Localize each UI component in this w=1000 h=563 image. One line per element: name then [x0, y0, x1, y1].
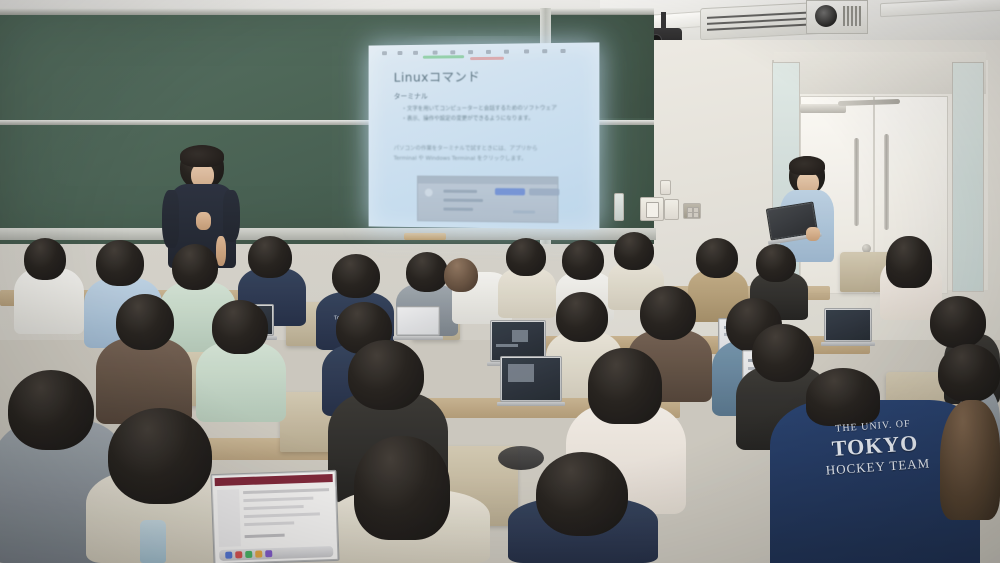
student-head [406, 252, 448, 292]
student-head [24, 238, 66, 280]
wall-sensor [660, 180, 671, 195]
toolbar-green-marker [423, 55, 464, 58]
speaker-cone [815, 5, 837, 27]
student-laptop[interactable] [500, 356, 562, 402]
wall-speaker [806, 0, 868, 34]
student-head [562, 240, 604, 280]
student-head [96, 240, 144, 286]
slide-toolbar [376, 45, 591, 60]
water-bottle [140, 520, 166, 563]
student-head [930, 296, 986, 348]
slide-bullet: ・文字を用いてコンピューターと会話するためのソフトウェア [401, 104, 556, 113]
screenshot-icon [425, 189, 433, 197]
student-head [8, 370, 94, 450]
student-head [696, 238, 738, 278]
door-side-glass-right [952, 62, 984, 292]
wall-edge-trim [614, 193, 624, 221]
student-head [536, 452, 628, 536]
student-head [172, 244, 218, 290]
student-head [506, 238, 546, 276]
screenshot-primary-button [495, 188, 525, 195]
student-head [116, 294, 174, 350]
student-head [640, 286, 696, 340]
student-head [348, 340, 424, 410]
laptop-screen-window [512, 330, 528, 342]
chalkboard-tray [0, 228, 656, 240]
student-head [614, 232, 654, 270]
slide-subtitle: ターミナル [394, 91, 428, 101]
lecture-hall-photo: Linuxコマンド ターミナル ・文字を用いてコンピューターと会話するためのソフ… [0, 0, 1000, 563]
assistant-hand [806, 227, 820, 241]
student-laptop[interactable] [824, 308, 872, 342]
door-handle-left[interactable] [854, 138, 859, 226]
student-body [196, 342, 286, 422]
slide-bullet: ・表示、操作や設定の変更ができるようになります。 [401, 114, 533, 122]
student-head [756, 244, 796, 282]
student-head [332, 254, 380, 298]
student-head [444, 258, 478, 292]
slide-paragraph-line: Terminal や Windows Terminal をクリックします。 [394, 154, 527, 162]
slide-paragraph-line: パソコンの作業をターミナルで試すときには、アプリから [394, 144, 538, 152]
wall-control-panel[interactable] [640, 197, 664, 221]
student-head [752, 324, 814, 382]
slide-title: Linuxコマンド [394, 66, 481, 86]
presenter-hand [196, 212, 211, 230]
headphones [498, 446, 544, 470]
student-head [354, 436, 450, 540]
slide-screenshot [417, 176, 558, 223]
foreground-laptop[interactable] [210, 470, 339, 563]
projection-screen: Linuxコマンド ターミナル ・文字を用いてコンピューターと会話するためのソフ… [369, 42, 600, 229]
assistant-hair [789, 156, 825, 175]
presenter-arm-right [223, 190, 240, 242]
laptop-window-sidebar [217, 489, 241, 547]
presenter-hair [180, 145, 224, 167]
screenshot-titlebar [418, 177, 557, 185]
student-head [556, 292, 608, 342]
student-head [938, 344, 1000, 402]
student-head [588, 348, 662, 424]
speaker-grill [843, 6, 861, 26]
toolbar-red-marker [470, 57, 504, 60]
screenshot-secondary-button [529, 188, 559, 195]
student-head [886, 236, 932, 288]
student-hair [940, 400, 1000, 520]
student-head [108, 408, 212, 504]
wall-outlet[interactable] [683, 203, 701, 219]
hockey-student-head [806, 368, 880, 426]
presenter-arm-left [162, 190, 179, 248]
student-head [212, 300, 268, 354]
student-laptop[interactable] [396, 306, 440, 336]
wall-switch-plate[interactable] [664, 199, 679, 220]
chalk-eraser [404, 233, 446, 240]
door-handle-right[interactable] [884, 134, 889, 230]
student-head [248, 236, 292, 278]
